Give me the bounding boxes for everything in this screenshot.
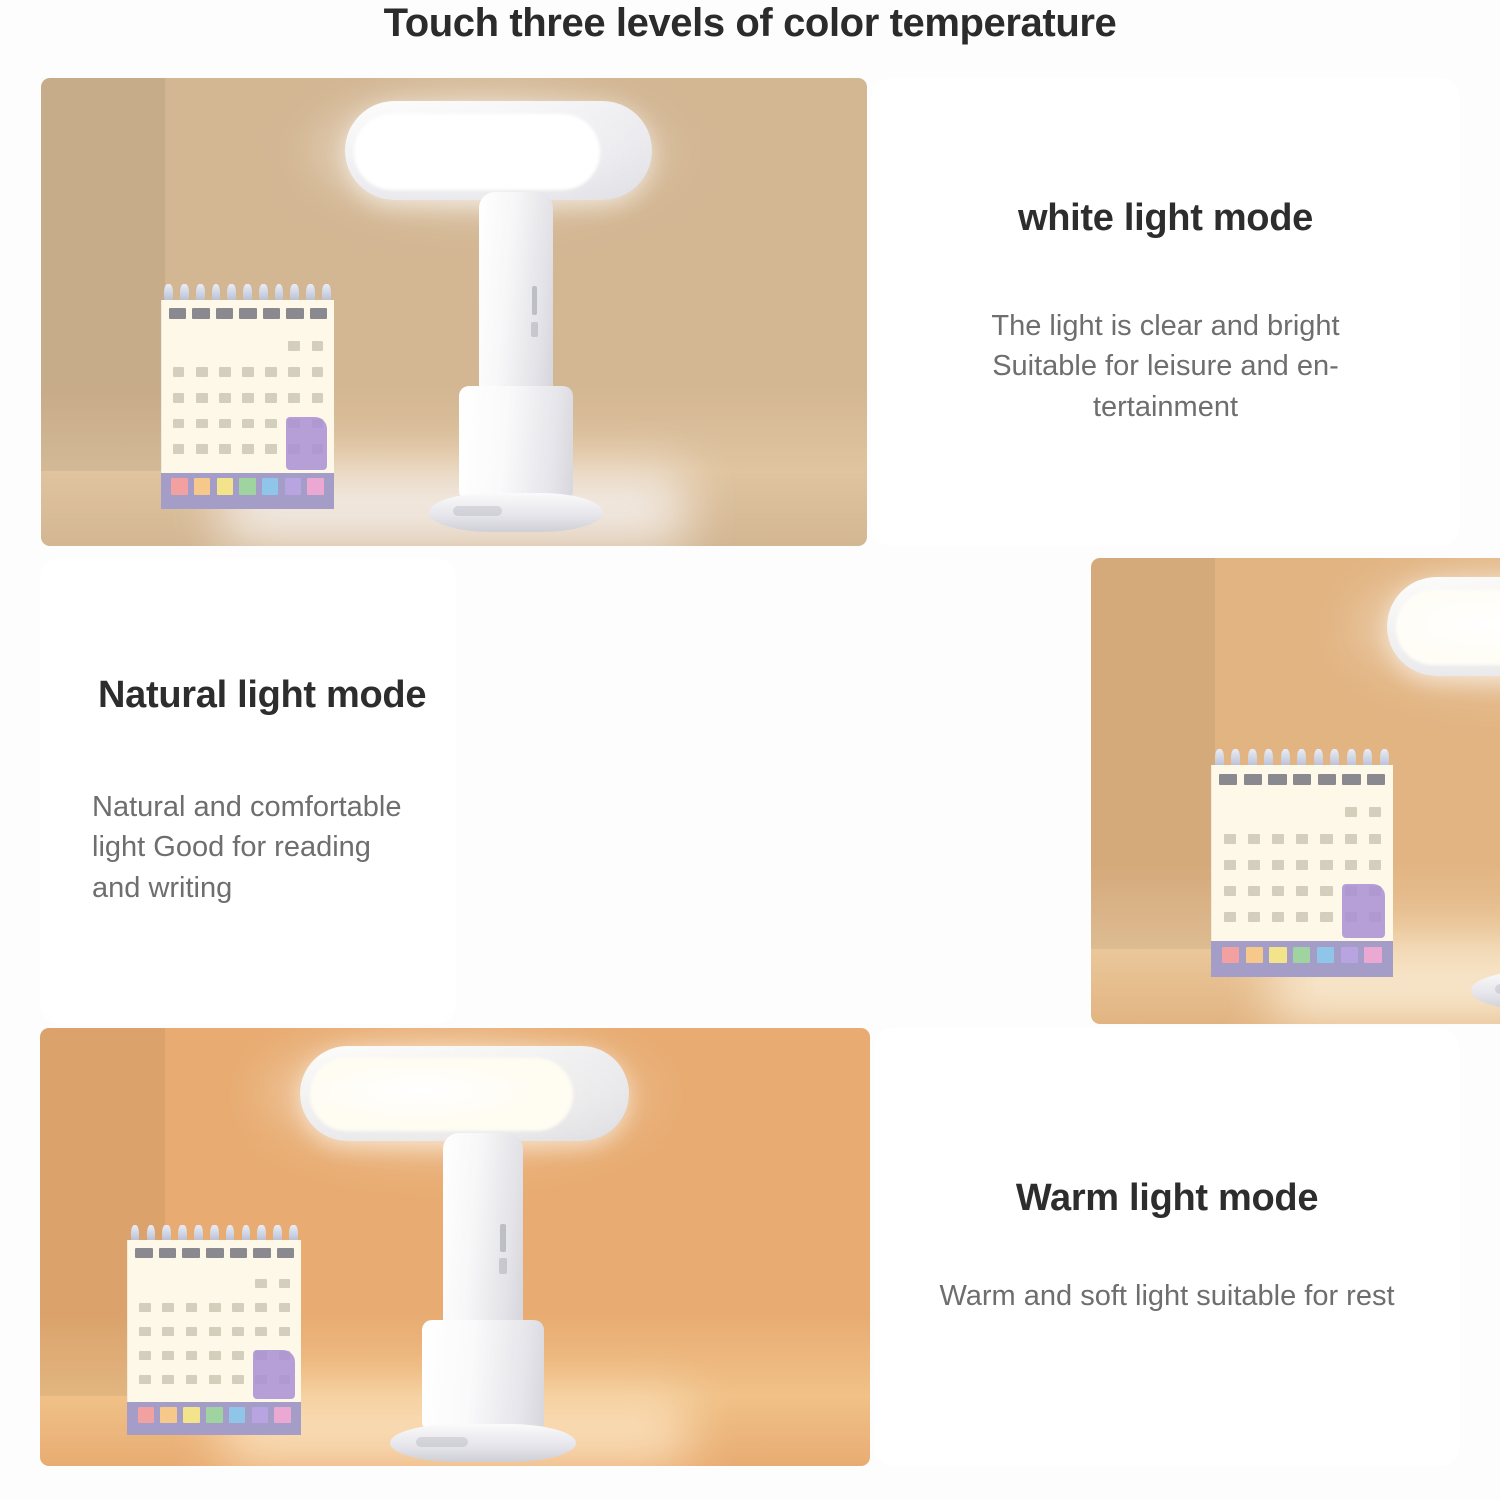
calendar-color-tab bbox=[1364, 947, 1381, 964]
mode-description: Warm and soft light suitable for rest bbox=[939, 1276, 1394, 1317]
product-feature-page: Touch three levels of color temperature bbox=[0, 0, 1500, 1500]
calendar-page bbox=[1211, 765, 1393, 943]
desk-calendar bbox=[1211, 749, 1393, 977]
calendar-color-tab bbox=[138, 1407, 155, 1422]
calendar-weekday-mark bbox=[169, 308, 186, 319]
calendar-date-mark bbox=[1296, 860, 1308, 870]
calendar-date-mark bbox=[1248, 886, 1260, 896]
calendar-base bbox=[127, 1402, 301, 1436]
calendar-color-tab bbox=[194, 478, 211, 495]
calendar-date-mark bbox=[196, 419, 208, 429]
calendar-date-mark bbox=[288, 341, 300, 351]
calendar-date-mark bbox=[219, 444, 231, 454]
calendar-date-mark bbox=[162, 1351, 174, 1360]
calendar-color-tabs bbox=[1222, 947, 1382, 964]
photo-wall-side bbox=[41, 78, 165, 471]
calendar-date-mark bbox=[1296, 834, 1308, 844]
calendar-color-tab bbox=[262, 478, 279, 495]
calendar-color-tab bbox=[171, 478, 188, 495]
desk-calendar bbox=[127, 1225, 301, 1435]
calendar-weekday-mark bbox=[206, 1248, 224, 1258]
calendar-weekday-mark bbox=[192, 308, 209, 319]
desk-lamp bbox=[404, 101, 652, 532]
mode-card-white-light: white light mode The light is clear and … bbox=[871, 78, 1460, 546]
calendar-date-mark bbox=[162, 1375, 174, 1384]
calendar-page bbox=[161, 300, 334, 475]
calendar-date-mark bbox=[1369, 834, 1381, 844]
calendar-date-mark bbox=[1224, 886, 1236, 896]
lamp-neck bbox=[443, 1133, 523, 1349]
calendar-date-mark bbox=[1369, 860, 1381, 870]
calendar-date-mark bbox=[1248, 834, 1260, 844]
mode-row-natural-light: Natural light mode Natural and comfortab… bbox=[0, 558, 1500, 1024]
lamp-head bbox=[1387, 577, 1500, 677]
calendar-date-mark bbox=[219, 393, 231, 403]
calendar-color-tab bbox=[217, 478, 234, 495]
calendar-date-mark bbox=[139, 1375, 151, 1384]
calendar-date-mark bbox=[255, 1279, 267, 1288]
lamp-neck bbox=[479, 192, 553, 416]
calendar-weekday-mark bbox=[135, 1248, 153, 1258]
lamp-light-panel bbox=[310, 1058, 573, 1131]
calendar-color-tab bbox=[1317, 947, 1334, 964]
mode-title: Natural light mode bbox=[98, 674, 426, 717]
lamp-base bbox=[390, 1424, 576, 1461]
calendar-date-mark bbox=[1320, 834, 1332, 844]
calendar-color-tab bbox=[183, 1407, 200, 1422]
lamp-base bbox=[1471, 971, 1500, 1010]
calendar-date-mark bbox=[209, 1327, 221, 1336]
lamp-photo-natural-light bbox=[1091, 558, 1500, 1024]
calendar-color-tab bbox=[1341, 947, 1358, 964]
calendar-weekday-mark bbox=[310, 308, 327, 319]
calendar-date-mark bbox=[312, 393, 324, 403]
calendar-date-mark bbox=[242, 444, 254, 454]
lamp-light-panel bbox=[354, 114, 600, 189]
calendar-date-mark bbox=[196, 393, 208, 403]
calendar-date-mark bbox=[1369, 807, 1381, 817]
calendar-date-mark bbox=[1345, 860, 1357, 870]
calendar-date-mark bbox=[173, 444, 185, 454]
calendar-month-numeral bbox=[286, 417, 327, 470]
calendar-date-mark bbox=[1345, 834, 1357, 844]
desk-lamp bbox=[364, 1046, 630, 1462]
calendar-date-mark bbox=[242, 393, 254, 403]
calendar-date-mark bbox=[1272, 886, 1284, 896]
calendar-color-tab bbox=[160, 1407, 177, 1422]
lamp-head bbox=[345, 101, 652, 200]
lamp-head bbox=[300, 1046, 629, 1142]
calendar-date-mark bbox=[288, 393, 300, 403]
calendar-weekday-mark bbox=[1367, 774, 1385, 785]
lamp-photo-white-light bbox=[41, 78, 867, 546]
calendar-color-tab bbox=[239, 478, 256, 495]
calendar-date-mark bbox=[232, 1303, 244, 1312]
calendar-date-mark bbox=[219, 419, 231, 429]
calendar-date-mark bbox=[139, 1327, 151, 1336]
calendar-date-mark bbox=[1248, 860, 1260, 870]
calendar-color-tabs bbox=[171, 478, 324, 495]
calendar-weekday-mark bbox=[159, 1248, 177, 1258]
calendar-date-mark bbox=[242, 367, 254, 377]
calendar-weekday-mark bbox=[182, 1248, 200, 1258]
calendar-date-mark bbox=[265, 419, 277, 429]
mode-title: white light mode bbox=[1018, 197, 1313, 240]
calendar-color-tab bbox=[252, 1407, 269, 1422]
calendar-color-tab bbox=[274, 1407, 291, 1422]
mode-row-warm-light: Warm light mode Warm and soft light suit… bbox=[0, 1028, 1500, 1466]
calendar-weekday-header bbox=[135, 1248, 294, 1263]
page-title: Touch three levels of color temperature bbox=[0, 0, 1500, 56]
calendar-date-mark bbox=[186, 1375, 198, 1384]
calendar-weekday-mark bbox=[286, 308, 303, 319]
calendar-date-mark bbox=[279, 1279, 291, 1288]
desk-lamp bbox=[1446, 577, 1500, 1010]
calendar-color-tab bbox=[285, 478, 302, 495]
calendar-weekday-mark bbox=[1244, 774, 1262, 785]
calendar-weekday-mark bbox=[1219, 774, 1237, 785]
calendar-color-tabs bbox=[138, 1407, 291, 1422]
calendar-date-mark bbox=[162, 1327, 174, 1336]
calendar-date-mark bbox=[1272, 912, 1284, 922]
calendar-date-mark bbox=[1320, 886, 1332, 896]
calendar-date-mark bbox=[173, 367, 185, 377]
calendar-date-mark bbox=[279, 1303, 291, 1312]
calendar-date-mark bbox=[1224, 834, 1236, 844]
calendar-weekday-mark bbox=[263, 308, 280, 319]
calendar-date-mark bbox=[139, 1351, 151, 1360]
calendar-date-mark bbox=[1320, 912, 1332, 922]
mode-card-warm-light: Warm light mode Warm and soft light suit… bbox=[874, 1028, 1460, 1466]
calendar-date-mark bbox=[288, 367, 300, 377]
lamp-photo-warm-light bbox=[40, 1028, 870, 1466]
mode-title: Warm light mode bbox=[1016, 1177, 1318, 1220]
calendar-date-mark bbox=[279, 1327, 291, 1336]
calendar-date-mark bbox=[242, 419, 254, 429]
calendar-date-mark bbox=[232, 1351, 244, 1360]
calendar-date-mark bbox=[186, 1327, 198, 1336]
calendar-date-mark bbox=[209, 1375, 221, 1384]
calendar-base bbox=[1211, 941, 1393, 978]
calendar-date-mark bbox=[1320, 860, 1332, 870]
lamp-base bbox=[429, 493, 602, 532]
calendar-color-tab bbox=[229, 1407, 246, 1422]
calendar-date-mark bbox=[265, 393, 277, 403]
calendar-weekday-mark bbox=[253, 1248, 271, 1258]
calendar-date-mark bbox=[1272, 834, 1284, 844]
calendar-base bbox=[161, 473, 334, 509]
calendar-date-mark bbox=[255, 1303, 267, 1312]
calendar-color-tab bbox=[1246, 947, 1263, 964]
calendar-date-mark bbox=[196, 444, 208, 454]
calendar-weekday-mark bbox=[1342, 774, 1360, 785]
calendar-weekday-mark bbox=[1268, 774, 1286, 785]
mode-description: Natural and comfortable light Good for r… bbox=[92, 787, 426, 909]
calendar-date-mark bbox=[219, 367, 231, 377]
calendar-date-mark bbox=[312, 367, 324, 377]
calendar-weekday-mark bbox=[1293, 774, 1311, 785]
calendar-date-mark bbox=[1296, 886, 1308, 896]
calendar-date-mark bbox=[186, 1351, 198, 1360]
calendar-date-mark bbox=[162, 1303, 174, 1312]
calendar-date-mark bbox=[186, 1303, 198, 1312]
calendar-date-mark bbox=[255, 1327, 267, 1336]
calendar-weekday-header bbox=[1219, 774, 1385, 790]
calendar-weekday-mark bbox=[1318, 774, 1336, 785]
calendar-date-mark bbox=[232, 1375, 244, 1384]
calendar-date-mark bbox=[265, 444, 277, 454]
calendar-color-tab bbox=[1222, 947, 1239, 964]
calendar-weekday-mark bbox=[216, 308, 233, 319]
calendar-date-mark bbox=[209, 1351, 221, 1360]
lamp-light-panel bbox=[1396, 590, 1500, 666]
calendar-date-mark bbox=[1248, 912, 1260, 922]
calendar-weekday-mark bbox=[230, 1248, 248, 1258]
calendar-month-numeral bbox=[253, 1350, 295, 1399]
calendar-date-mark bbox=[1224, 912, 1236, 922]
calendar-color-tab bbox=[1269, 947, 1286, 964]
calendar-date-mark bbox=[173, 393, 185, 403]
calendar-page bbox=[127, 1240, 301, 1404]
mode-row-white-light: white light mode The light is clear and … bbox=[0, 78, 1500, 546]
calendar-color-tab bbox=[1293, 947, 1310, 964]
calendar-date-mark bbox=[209, 1303, 221, 1312]
mode-description: The light is clear and bright Suitable f… bbox=[936, 306, 1396, 428]
calendar-date-mark bbox=[1272, 860, 1284, 870]
calendar-date-mark bbox=[1224, 860, 1236, 870]
calendar-color-tab bbox=[206, 1407, 223, 1422]
calendar-date-mark bbox=[173, 419, 185, 429]
lamp-body bbox=[422, 1320, 544, 1428]
mode-card-natural-light: Natural light mode Natural and comfortab… bbox=[40, 558, 456, 1024]
calendar-month-numeral bbox=[1342, 884, 1385, 937]
calendar-weekday-mark bbox=[239, 308, 256, 319]
calendar-color-tab bbox=[307, 478, 324, 495]
lamp-body bbox=[459, 386, 573, 498]
calendar-date-mark bbox=[196, 367, 208, 377]
calendar-date-mark bbox=[1296, 912, 1308, 922]
calendar-date-mark bbox=[312, 341, 324, 351]
calendar-weekday-mark bbox=[277, 1248, 295, 1258]
calendar-date-mark bbox=[232, 1327, 244, 1336]
photo-wall-side bbox=[1091, 558, 1215, 949]
calendar-date-mark bbox=[265, 367, 277, 377]
calendar-date-mark bbox=[1345, 807, 1357, 817]
calendar-date-mark bbox=[139, 1303, 151, 1312]
desk-calendar bbox=[161, 284, 334, 509]
calendar-weekday-header bbox=[169, 308, 328, 324]
